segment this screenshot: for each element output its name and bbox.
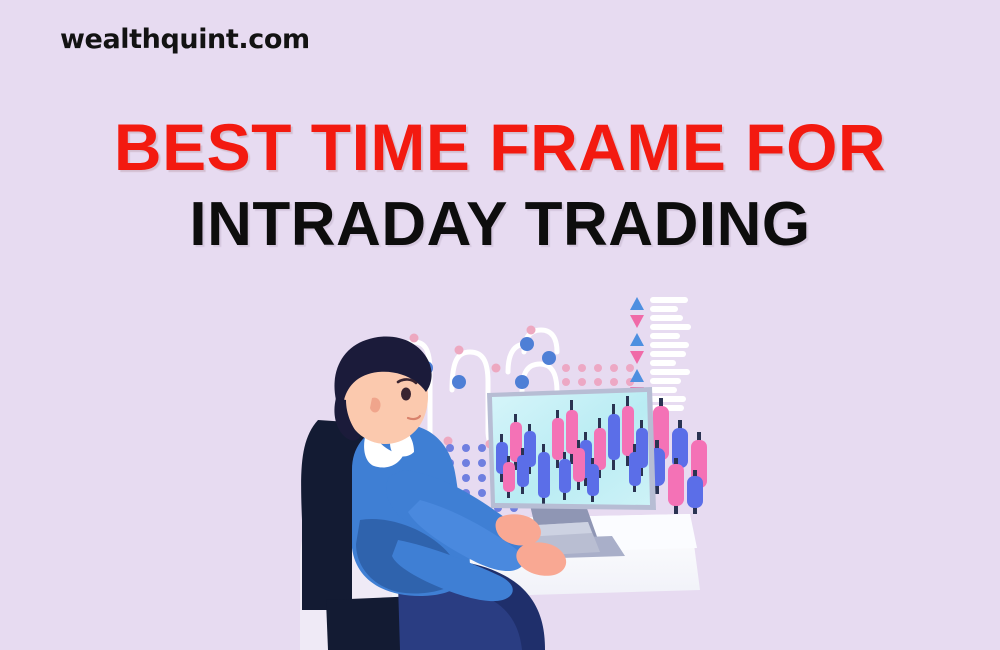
order-row [630,315,691,330]
order-row [630,297,688,312]
order-row [630,333,689,348]
trader-illustration [0,0,1000,650]
order-row [630,351,686,366]
poster-canvas: wealthquint.com BEST TIME FRAME FOR INTR… [0,0,1000,650]
order-row [630,369,690,384]
